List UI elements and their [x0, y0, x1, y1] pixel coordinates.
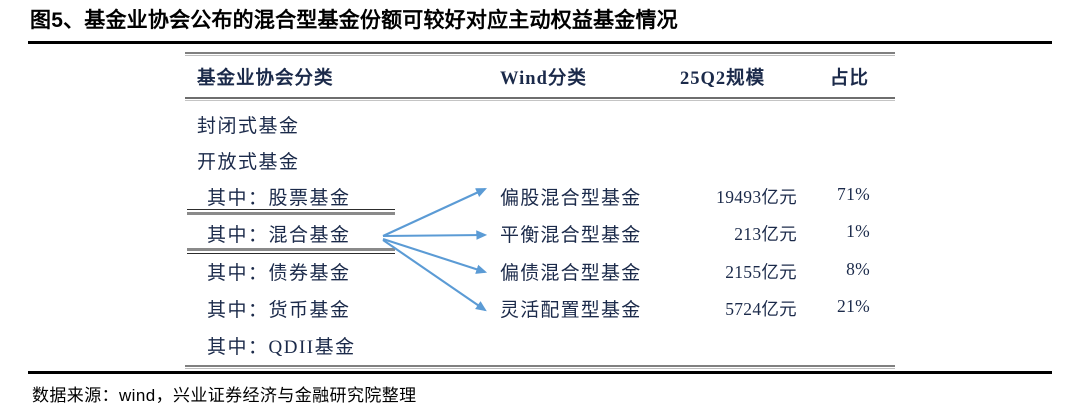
wind-table-row: 平衡混合型基金 213亿元 1% [465, 213, 895, 250]
association-category-label-mixed-fund: 其中：混合基金 [207, 220, 351, 247]
wind-scale-value: 2155亿元 [665, 259, 797, 284]
footer-divider [28, 371, 1052, 374]
association-category-label: 其中：QDII基金 [207, 332, 356, 359]
wind-category-label: 偏股混合型基金 [500, 183, 641, 210]
wind-category-label: 平衡混合型基金 [500, 220, 641, 247]
table-row: 其中：债券基金 [185, 251, 400, 288]
wind-scale-value: 5724亿元 [665, 296, 797, 321]
association-category-label: 封闭式基金 [197, 111, 300, 138]
association-category-label: 其中：货币基金 [207, 295, 351, 322]
column-header-association-category: 基金业协会分类 [197, 64, 334, 90]
classification-mapping-table: 基金业协会分类 Wind分类 25Q2规模 占比 封闭式基金 开放式基金 其中：… [185, 52, 895, 368]
wind-scale-value: 213亿元 [665, 221, 797, 246]
wind-category-label: 灵活配置型基金 [500, 295, 641, 322]
wind-scale-value: 19493亿元 [665, 184, 797, 209]
table-row: 开放式基金 [185, 140, 400, 177]
table-top-border [185, 52, 895, 56]
wind-share-value: 1% [810, 221, 870, 242]
mixed-fund-highlight-top-rule [187, 209, 395, 215]
wind-table-row: 偏债混合型基金 2155亿元 8% [465, 251, 895, 288]
wind-share-value: 71% [810, 184, 870, 205]
wind-table-row: 偏股混合型基金 19493亿元 71% [465, 176, 895, 213]
mixed-fund-highlight-bottom-rule [187, 248, 395, 254]
association-category-label: 开放式基金 [197, 147, 300, 174]
page-title: 图5、基金业协会公布的混合型基金份额可较好对应主动权益基金情况 [30, 6, 678, 36]
wind-table-row: 灵活配置型基金 5724亿元 21% [465, 288, 895, 325]
column-header-wind-category: Wind分类 [500, 64, 587, 90]
table-row-highlighted: 其中：混合基金 [185, 213, 400, 250]
wind-category-label: 偏债混合型基金 [500, 258, 641, 285]
association-category-label: 其中：债券基金 [207, 258, 351, 285]
table-row: 封闭式基金 [185, 104, 400, 141]
table-row: 其中：股票基金 [185, 176, 400, 213]
column-header-scale-25q2: 25Q2规模 [680, 64, 765, 90]
table-row: 其中：QDII基金 [185, 325, 400, 362]
table-header-border [185, 97, 895, 101]
table-bottom-border [185, 365, 895, 369]
association-category-label: 其中：股票基金 [207, 183, 351, 210]
title-divider [28, 41, 1052, 44]
table-header-row: 基金业协会分类 Wind分类 25Q2规模 占比 [185, 58, 895, 96]
column-header-share-pct: 占比 [830, 64, 869, 90]
wind-share-value: 21% [810, 296, 870, 317]
table-row: 其中：货币基金 [185, 288, 400, 325]
wind-share-value: 8% [810, 259, 870, 280]
data-source-note: 数据来源：wind，兴业证券经济与金融研究院整理 [32, 381, 417, 406]
